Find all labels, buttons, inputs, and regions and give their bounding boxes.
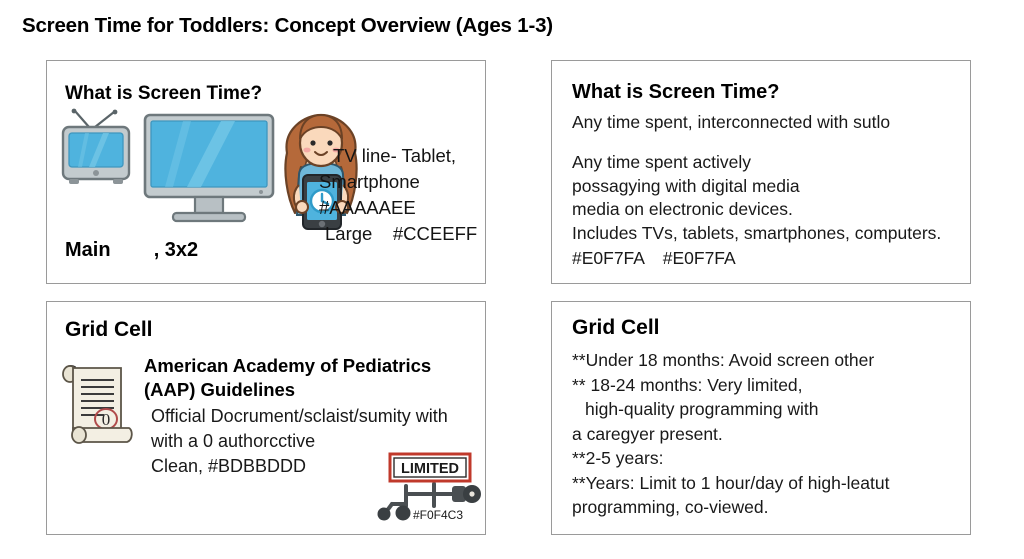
list-item: a caregyer present. <box>572 422 889 447</box>
limited-sign-illustration: LIMITED #F0F4C3 <box>372 450 484 528</box>
definition-paragraph-2: Any time spent actively possagying with … <box>572 151 941 245</box>
panel-heading: What is Screen Time? <box>65 83 262 105</box>
panel-heading: What is Screen Time? <box>572 81 779 104</box>
aap-subheading-line-2: (AAP) Guidelines <box>144 378 431 402</box>
panel-aap-guidelines: Grid Cell 0 American Academy of Pediatri… <box>46 301 486 535</box>
panel-heading: Grid Cell <box>572 316 660 340</box>
paragraph-2-line-2: possagying with digital media <box>572 175 941 199</box>
list-item: programming, co-viewed. <box>572 495 889 520</box>
side-note-color-code: #CCEEFF <box>393 223 477 244</box>
color-code-1: #E0F7FA <box>572 248 644 268</box>
list-item: **Under 18 months: Avoid screen other <box>572 348 889 373</box>
side-note-line-1: TV line- Tablet, <box>319 143 486 169</box>
device-list-note: TV line- Tablet, Smartphone #AAAAAEE Lar… <box>319 143 486 247</box>
list-item: **Years: Limit to 1 hour/day of high-lea… <box>572 471 889 496</box>
retro-tv-icon <box>63 109 129 184</box>
paragraph-2-line-4: Includes TVs, tablets, smartphones, comp… <box>572 222 941 246</box>
layout-note: Main , 3x2 <box>65 239 198 262</box>
panel-age-recommendations: Grid Cell **Under 18 months: Avoid scree… <box>551 301 971 535</box>
definition-paragraph-1: Any time spent, interconnected with sutl… <box>572 111 890 135</box>
panel-what-is-screen-time-text: What is Screen Time? Any time spent, int… <box>551 60 971 284</box>
layout-note-value: , 3x2 <box>154 239 198 261</box>
list-item: high-quality programming with <box>572 397 889 422</box>
scroll-seal-text: 0 <box>102 410 111 429</box>
list-item: **2-5 years: <box>572 446 889 471</box>
color-code-2: #E0F7FA <box>663 248 736 268</box>
list-item: ** 18-24 months: Very limited, <box>572 373 889 398</box>
paragraph-2-line-3: media on electronic devices. <box>572 198 941 222</box>
side-note-line-2: Smartphone <box>319 169 486 195</box>
paragraph-1-line-1: Any time spent, interconnected with sutl… <box>572 111 890 135</box>
limited-sign-code: #F0F4C3 <box>413 508 463 522</box>
panel-what-is-screen-time-visual: What is Screen Time? <box>46 60 486 284</box>
side-note-line-3: #AAAAAEE <box>319 195 486 221</box>
aap-body-line-1: Official Docrument/sclaist/sumity with <box>151 404 448 429</box>
paragraph-2-line-1: Any time spent actively <box>572 151 941 175</box>
side-note-line-4: Large <box>325 223 372 244</box>
aap-subheading: American Academy of Pediatrics (AAP) Gui… <box>144 354 431 402</box>
scroll-document-icon: 0 <box>59 364 137 448</box>
panel-heading: Grid Cell <box>65 318 153 342</box>
limited-sign-label: LIMITED <box>401 461 459 477</box>
age-recommendation-list: **Under 18 months: Avoid screen other **… <box>572 348 889 520</box>
screen-devices-illustration <box>59 109 349 229</box>
page-title: Screen Time for Toddlers: Concept Overvi… <box>22 14 553 38</box>
aap-subheading-line-1: American Academy of Pediatrics <box>144 354 431 378</box>
desktop-monitor-icon <box>145 115 273 221</box>
color-code-row: #E0F7FA #E0F7FA <box>572 247 736 271</box>
layout-note-label: Main <box>65 239 111 261</box>
